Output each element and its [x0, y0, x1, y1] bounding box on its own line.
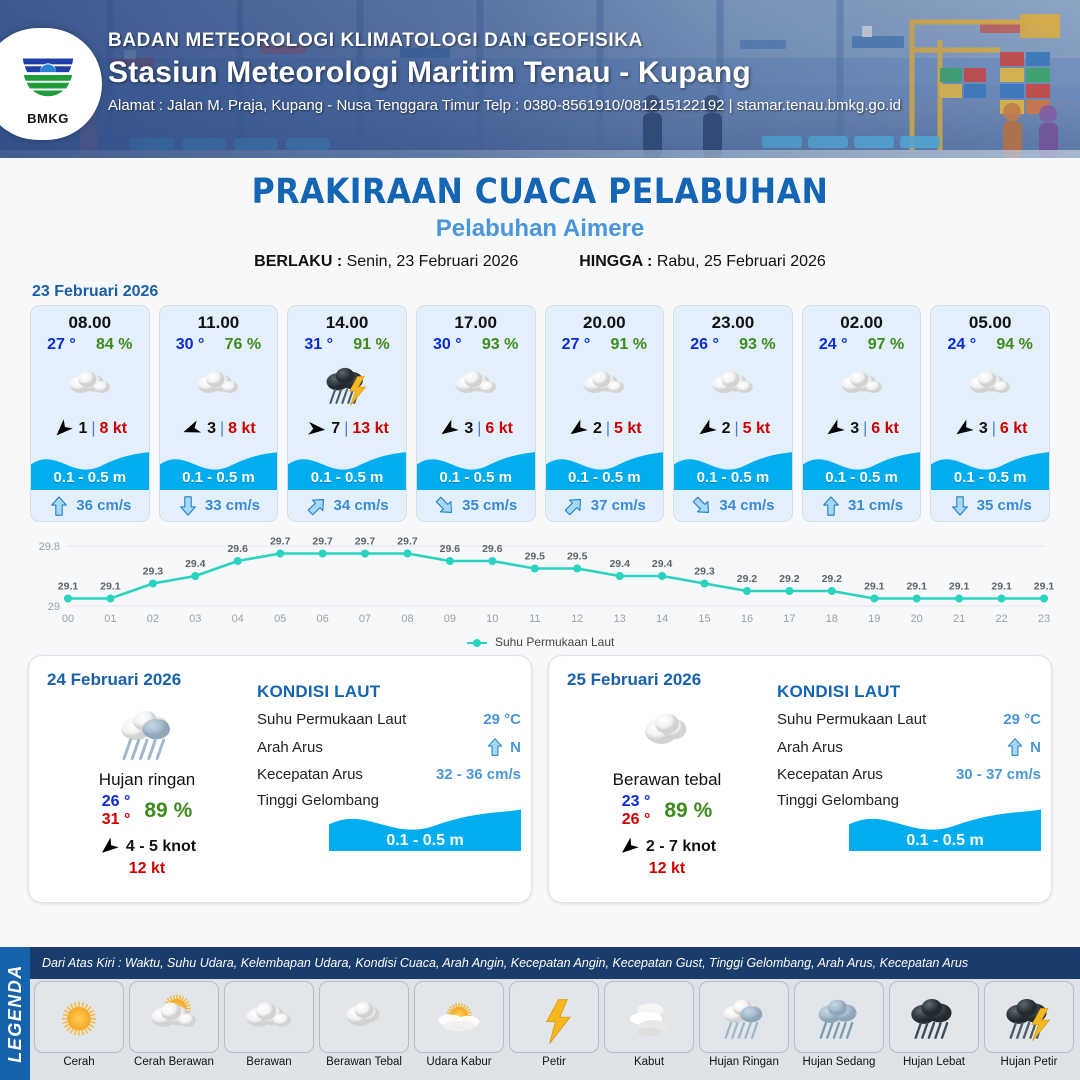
- page-subtitle: Pelabuhan Aimere: [0, 215, 1080, 243]
- hourly-values: 31 ° 91 %: [288, 335, 406, 356]
- hourly-temperature: 27 °: [47, 336, 76, 354]
- chart-point-label: 29.3: [694, 566, 715, 578]
- chart-point: [998, 595, 1006, 603]
- chart-point: [701, 580, 709, 588]
- chart-point-label: 29.4: [609, 558, 630, 570]
- daily-left-block: Hujan ringan 26 ° 31 ° 89 % 4 - 5 knot 1…: [41, 696, 253, 878]
- legend-icon-cell: [129, 981, 219, 1053]
- daily-sea-title: KONDISI LAUT: [257, 682, 521, 702]
- daily-sea-key: Kecepatan Arus: [777, 766, 883, 783]
- chart-point-label: 29.6: [227, 543, 248, 555]
- hourly-current: 36 cm/s: [31, 490, 149, 521]
- current-direction-arrow-icon: [48, 495, 70, 517]
- daily-sea-row: Kecepatan Arus30 - 37 cm/s: [777, 766, 1041, 783]
- hourly-current: 35 cm/s: [417, 490, 535, 521]
- chart-xtick: 09: [444, 613, 456, 625]
- chart-ytick: 29.8: [39, 541, 60, 553]
- wind-separator: |: [735, 420, 739, 438]
- current-direction-arrow-icon: [563, 495, 585, 517]
- daily-sea-block: KONDISI LAUT Suhu Permukaan Laut29 °C Ar…: [777, 682, 1041, 851]
- daily-panel: 25 Februari 2026 Berawan tebal 23 ° 26 °: [548, 655, 1052, 903]
- daily-weather-icon: [561, 696, 773, 768]
- chart-point: [913, 595, 921, 603]
- legend-item: Hujan Lebat: [889, 981, 979, 1068]
- chart-point-label: 29.6: [440, 543, 461, 555]
- weather-icon-udara-kabur: [428, 988, 490, 1045]
- legend-icon-cell: [794, 981, 884, 1053]
- legend-item: Kabut: [604, 981, 694, 1068]
- wind-direction-arrow-icon: [696, 418, 718, 440]
- daily-current-direction: N: [1005, 737, 1041, 757]
- legend-icon-cell: [319, 981, 409, 1053]
- legend-item-label: Hujan Sedang: [794, 1056, 884, 1068]
- hourly-gust: 13 kt: [352, 420, 388, 438]
- daily-gust: 12 kt: [41, 860, 253, 878]
- legend-icon-cell: [509, 981, 599, 1053]
- chart-xtick: 04: [232, 613, 244, 625]
- chart-point: [234, 557, 242, 565]
- weather-icon-berawan: [834, 358, 890, 410]
- wind-separator: |: [91, 420, 95, 438]
- chart-xtick: 15: [698, 613, 710, 625]
- legend-item: Petir: [509, 981, 599, 1068]
- hourly-wind: 1 | 8 kt: [31, 412, 149, 446]
- legend-icon-cell: [889, 981, 979, 1053]
- hourly-wind: 3 | 6 kt: [803, 412, 921, 446]
- daily-wind-speed: 4 - 5 knot: [126, 838, 196, 856]
- daily-sea-row: Suhu Permukaan Laut29 °C: [257, 711, 521, 728]
- hourly-gust: 6 kt: [485, 420, 513, 438]
- daily-sea-key: Suhu Permukaan Laut: [777, 711, 926, 728]
- sst-chart-svg: 2929.829.10029.10129.30229.40329.60429.7…: [22, 528, 1058, 628]
- hourly-time: 11.00: [160, 306, 278, 335]
- daily-sea-value: 32 - 36 cm/s: [436, 766, 521, 783]
- chart-xtick: 13: [614, 613, 626, 625]
- chart-point-label: 29.3: [143, 566, 164, 578]
- sst-chart: 2929.829.10029.10129.30229.40329.60429.7…: [0, 522, 1080, 633]
- legend-item: Hujan Petir: [984, 981, 1074, 1068]
- hourly-weather-icon: [931, 356, 1049, 412]
- daily-temp-humidity: 26 ° 31 ° 89 %: [41, 793, 253, 830]
- daily-sea-value: 29 °C: [1003, 711, 1041, 728]
- hourly-current: 34 cm/s: [674, 490, 792, 521]
- chart-point-label: 29.7: [355, 536, 376, 548]
- chart-point-label: 29.4: [185, 558, 206, 570]
- hourly-current-speed: 35 cm/s: [462, 497, 517, 514]
- daily-temp-max: 31 °: [102, 811, 131, 828]
- hourly-current-speed: 34 cm/s: [334, 497, 389, 514]
- legend-item-label: Hujan Petir: [984, 1056, 1074, 1068]
- chart-point-label: 29.6: [482, 543, 503, 555]
- chart-point: [64, 595, 72, 603]
- valid-from-label: BERLAKU :: [254, 253, 342, 270]
- valid-to-label: HINGGA :: [579, 253, 652, 270]
- hourly-wind: 2 | 5 kt: [674, 412, 792, 446]
- current-direction-arrow-icon: [691, 495, 713, 517]
- current-direction-arrow-icon: [306, 495, 328, 517]
- daily-wave-height: 0.1 - 0.5 m: [849, 832, 1041, 850]
- weather-icon-kabut: [618, 988, 680, 1045]
- legend-item: Berawan Tebal: [319, 981, 409, 1068]
- weather-icon-berawan: [190, 358, 246, 410]
- legend-item-list: Cerah Cerah Berawan: [34, 981, 1074, 1068]
- header-text-block: BADAN METEOROLOGI KLIMATOLOGI DAN GEOFIS…: [108, 30, 901, 114]
- weather-icon-berawan: [448, 358, 504, 410]
- hourly-wave: 0.1 - 0.5 m: [931, 446, 1049, 490]
- current-direction-arrow-icon: [949, 495, 971, 517]
- chart-point-label: 29.2: [779, 573, 800, 585]
- daily-gust: 12 kt: [561, 860, 773, 878]
- hourly-weather-icon: [417, 356, 535, 412]
- hourly-gust: 6 kt: [1000, 420, 1028, 438]
- hourly-wind-speed: 3: [979, 420, 988, 438]
- hourly-humidity: 84 %: [96, 336, 132, 354]
- wind-direction-arrow-icon: [618, 836, 640, 858]
- hourly-values: 24 ° 97 %: [803, 335, 921, 356]
- chart-point-label: 29.2: [737, 573, 758, 585]
- hourly-values: 27 ° 91 %: [546, 335, 664, 356]
- chart-xtick: 17: [783, 613, 795, 625]
- chart-point: [658, 572, 666, 580]
- legend-item-label: Udara Kabur: [414, 1056, 504, 1068]
- chart-point-label: 29.5: [567, 551, 588, 563]
- hourly-time: 05.00: [931, 306, 1049, 335]
- title-block: PRAKIRAAN CUACA PELABUHAN Pelabuhan Aime…: [0, 158, 1080, 271]
- chart-point: [191, 572, 199, 580]
- legend-item: Hujan Ringan: [699, 981, 789, 1068]
- daily-sea-row: Suhu Permukaan Laut29 °C: [777, 711, 1041, 728]
- chart-point: [573, 565, 581, 573]
- chart-point: [743, 587, 751, 595]
- hourly-wind-speed: 2: [593, 420, 602, 438]
- chart-legend-marker-icon: [466, 638, 488, 648]
- hourly-weather-icon: [288, 356, 406, 412]
- hourly-time: 02.00: [803, 306, 921, 335]
- hourly-card: 11.00 30 ° 76 % 3 | 8 kt: [159, 305, 279, 522]
- daily-sea-row: Arah Arus N: [777, 737, 1041, 757]
- daily-date: 24 Februari 2026: [47, 670, 181, 690]
- hourly-current-speed: 33 cm/s: [205, 497, 260, 514]
- weather-icon-berawan: [705, 358, 761, 410]
- hourly-current: 35 cm/s: [931, 490, 1049, 521]
- chart-point: [276, 550, 284, 558]
- daily-sea-block: KONDISI LAUT Suhu Permukaan Laut29 °C Ar…: [257, 682, 521, 851]
- hourly-current-speed: 31 cm/s: [848, 497, 903, 514]
- daily-temp-max: 26 °: [622, 811, 651, 828]
- wind-direction-arrow-icon: [52, 418, 74, 440]
- legend-icon-cell: [414, 981, 504, 1053]
- valid-from-value: Senin, 23 Februari 2026: [347, 253, 519, 270]
- daily-wave: 0.1 - 0.5 m: [257, 805, 521, 851]
- hourly-wind: 7 | 13 kt: [288, 412, 406, 446]
- weather-icon-cerah-berawan: [143, 988, 205, 1045]
- hourly-current: 33 cm/s: [160, 490, 278, 521]
- chart-point-label: 29.1: [949, 581, 970, 593]
- header-station: Stasiun Meteorologi Maritim Tenau - Kupa…: [108, 56, 901, 90]
- weather-icon-petir: [523, 988, 585, 1045]
- hourly-temperature: 24 °: [819, 336, 848, 354]
- chart-xtick: 11: [529, 613, 540, 625]
- legend-side-bar: LEGENDA: [0, 947, 30, 1080]
- hourly-values: 24 ° 94 %: [931, 335, 1049, 356]
- legend-item-label: Berawan: [224, 1056, 314, 1068]
- current-direction-arrow-icon: [820, 495, 842, 517]
- daily-temp-min: 26 °: [102, 793, 131, 810]
- hourly-values: 26 ° 93 %: [674, 335, 792, 356]
- hourly-current-speed: 35 cm/s: [977, 497, 1032, 514]
- hourly-current: 34 cm/s: [288, 490, 406, 521]
- chart-point: [446, 557, 454, 565]
- daily-temp-min: 23 °: [622, 793, 651, 810]
- daily-humidity: 89 %: [144, 799, 192, 823]
- chart-xtick: 10: [486, 613, 498, 625]
- legend-note: Dari Atas Kiri : Waktu, Suhu Udara, Kele…: [30, 947, 1080, 979]
- weather-icon-hujan-ringan: [713, 988, 775, 1045]
- legend-item-label: Petir: [509, 1056, 599, 1068]
- legend-icon-cell: [34, 981, 124, 1053]
- daily-sea-key: Arah Arus: [257, 739, 323, 756]
- hourly-wave-height: 0.1 - 0.5 m: [288, 469, 406, 486]
- hourly-wave: 0.1 - 0.5 m: [417, 446, 535, 490]
- hourly-wind-speed: 3: [850, 420, 859, 438]
- weather-icon-berawan: [238, 988, 300, 1045]
- hourly-card-list: 08.00 27 ° 84 % 1 | 8 kt: [0, 305, 1080, 522]
- hourly-current-speed: 37 cm/s: [591, 497, 646, 514]
- hourly-wave-height: 0.1 - 0.5 m: [160, 469, 278, 486]
- weather-icon-berawan-tebal: [628, 696, 706, 768]
- hourly-wind: 3 | 6 kt: [417, 412, 535, 446]
- daily-humidity: 89 %: [664, 799, 712, 823]
- daily-sea-key: Kecepatan Arus: [257, 766, 363, 783]
- chart-xtick: 14: [656, 613, 668, 625]
- hourly-humidity: 93 %: [482, 336, 518, 354]
- weather-icon-berawan: [62, 358, 118, 410]
- legend-item: Cerah: [34, 981, 124, 1068]
- logo-text: BMKG: [17, 111, 79, 126]
- header-org: BADAN METEOROLOGI KLIMATOLOGI DAN GEOFIS…: [108, 30, 901, 52]
- legend-item-label: Cerah: [34, 1056, 124, 1068]
- weather-icon-hujan-lebat: [903, 988, 965, 1045]
- current-direction-arrow-icon: [177, 495, 199, 517]
- daily-condition: Hujan ringan: [41, 770, 253, 790]
- hourly-weather-icon: [160, 356, 278, 412]
- chart-point-label: 29.1: [906, 581, 927, 593]
- chart-xtick: 21: [953, 613, 965, 625]
- daily-wind-speed: 2 - 7 knot: [646, 838, 716, 856]
- hourly-weather-icon: [674, 356, 792, 412]
- chart-point: [785, 587, 793, 595]
- wind-separator: |: [992, 420, 996, 438]
- hourly-card: 05.00 24 ° 94 % 3 | 6 kt: [930, 305, 1050, 522]
- chart-point: [870, 595, 878, 603]
- weather-icon-hujan-sedang: [808, 988, 870, 1045]
- chart-point-label: 29.4: [652, 558, 673, 570]
- hourly-wind-speed: 2: [722, 420, 731, 438]
- chart-point: [488, 557, 496, 565]
- daily-current-direction-label: N: [1030, 739, 1041, 756]
- legend-icon-cell: [604, 981, 694, 1053]
- wind-direction-arrow-icon: [438, 418, 460, 440]
- wind-direction-arrow-icon: [98, 836, 120, 858]
- hourly-wind-speed: 3: [207, 420, 216, 438]
- current-direction-arrow-icon: [434, 495, 456, 517]
- hourly-humidity: 91 %: [611, 336, 647, 354]
- daily-panels: 24 Februari 2026 Hujan ringan 26 ° 31 °: [0, 649, 1080, 903]
- wind-separator: |: [220, 420, 224, 438]
- bmkg-logo-mark: [17, 43, 79, 105]
- hourly-wave-height: 0.1 - 0.5 m: [931, 469, 1049, 486]
- hourly-wave-height: 0.1 - 0.5 m: [417, 469, 535, 486]
- hourly-temperature: 27 °: [562, 336, 591, 354]
- chart-point-label: 29.7: [312, 536, 333, 548]
- wind-direction-arrow-icon: [567, 418, 589, 440]
- chart-point: [149, 580, 157, 588]
- hourly-wind-speed: 1: [78, 420, 87, 438]
- hourly-weather-icon: [803, 356, 921, 412]
- hourly-temperature: 24 °: [948, 336, 977, 354]
- daily-sea-title: KONDISI LAUT: [777, 682, 1041, 702]
- daily-sea-value: 29 °C: [483, 711, 521, 728]
- chart-legend: Suhu Permukaan Laut: [0, 635, 1080, 649]
- weather-icon-hujan-petir: [319, 358, 375, 410]
- legend-item: Cerah Berawan: [129, 981, 219, 1068]
- weather-icon-berawan: [576, 358, 632, 410]
- wind-separator: |: [477, 420, 481, 438]
- wind-direction-arrow-icon: [305, 418, 327, 440]
- hourly-values: 27 ° 84 %: [31, 335, 149, 356]
- legend-section: LEGENDA Dari Atas Kiri : Waktu, Suhu Uda…: [0, 947, 1080, 1080]
- chart-point-label: 29.1: [1034, 581, 1055, 593]
- chart-point: [404, 550, 412, 558]
- current-direction-arrow-icon: [485, 737, 505, 757]
- hourly-weather-icon: [31, 356, 149, 412]
- legend-icon-cell: [699, 981, 789, 1053]
- wind-direction-arrow-icon: [181, 418, 203, 440]
- chart-point-label: 29.1: [991, 581, 1012, 593]
- legend-item-label: Kabut: [604, 1056, 694, 1068]
- daily-wave-height: 0.1 - 0.5 m: [329, 832, 521, 850]
- weather-icon-berawan: [962, 358, 1018, 410]
- weather-icon-berawan-tebal: [333, 988, 395, 1045]
- legend-item: Hujan Sedang: [794, 981, 884, 1068]
- hourly-wave: 0.1 - 0.5 m: [546, 446, 664, 490]
- daily-current-direction: N: [485, 737, 521, 757]
- hourly-humidity: 97 %: [868, 336, 904, 354]
- hourly-current-speed: 36 cm/s: [76, 497, 131, 514]
- chart-point: [955, 595, 963, 603]
- hourly-card: 08.00 27 ° 84 % 1 | 8 kt: [30, 305, 150, 522]
- daily-sea-row: Arah Arus N: [257, 737, 521, 757]
- hourly-wind-speed: 3: [464, 420, 473, 438]
- daily-sea-key: Suhu Permukaan Laut: [257, 711, 406, 728]
- weather-icon-hujan-petir: [998, 988, 1060, 1045]
- chart-point-label: 29.7: [397, 536, 418, 548]
- wind-separator: |: [863, 420, 867, 438]
- hourly-temperature: 30 °: [433, 336, 462, 354]
- chart-xtick: 20: [911, 613, 923, 625]
- hourly-gust: 8 kt: [228, 420, 256, 438]
- chart-point-label: 29.1: [58, 581, 79, 593]
- page-title: PRAKIRAAN CUACA PELABUHAN: [0, 172, 1080, 212]
- hourly-wind: 2 | 5 kt: [546, 412, 664, 446]
- wind-direction-arrow-icon: [953, 418, 975, 440]
- daily-wave: 0.1 - 0.5 m: [777, 805, 1041, 851]
- chart-point: [616, 572, 624, 580]
- weather-icon-cerah: [48, 988, 110, 1045]
- legend-side-label: LEGENDA: [5, 964, 26, 1063]
- hourly-gust: 5 kt: [614, 420, 642, 438]
- chart-xtick: 22: [995, 613, 1007, 625]
- hourly-card: 23.00 26 ° 93 % 2 | 5 kt: [673, 305, 793, 522]
- hourly-wave-height: 0.1 - 0.5 m: [803, 469, 921, 486]
- hourly-temperature: 26 °: [690, 336, 719, 354]
- hourly-wind: 3 | 8 kt: [160, 412, 278, 446]
- hourly-values: 30 ° 76 %: [160, 335, 278, 356]
- current-direction-arrow-icon: [1005, 737, 1025, 757]
- hourly-gust: 8 kt: [100, 420, 128, 438]
- chart-point: [828, 587, 836, 595]
- valid-to-value: Rabu, 25 Februari 2026: [657, 253, 826, 270]
- header-address: Alamat : Jalan M. Praja, Kupang - Nusa T…: [108, 97, 901, 114]
- hourly-time: 14.00: [288, 306, 406, 335]
- chart-line: [68, 554, 1044, 599]
- hourly-current: 37 cm/s: [546, 490, 664, 521]
- daily-date: 25 Februari 2026: [567, 670, 701, 690]
- hourly-time: 20.00: [546, 306, 664, 335]
- hourly-time: 08.00: [31, 306, 149, 335]
- hourly-current-speed: 34 cm/s: [719, 497, 774, 514]
- daily-wind: 4 - 5 knot: [41, 836, 253, 858]
- daily-sea-value: 30 - 37 cm/s: [956, 766, 1041, 783]
- hourly-humidity: 76 %: [225, 336, 261, 354]
- daily-wind: 2 - 7 knot: [561, 836, 773, 858]
- hourly-humidity: 93 %: [739, 336, 775, 354]
- hourly-wind-speed: 7: [331, 420, 340, 438]
- legend-item: Udara Kabur: [414, 981, 504, 1068]
- daily-sea-row: Kecepatan Arus32 - 36 cm/s: [257, 766, 521, 783]
- chart-xtick: 07: [359, 613, 371, 625]
- legend-item-label: Cerah Berawan: [129, 1056, 219, 1068]
- hourly-time: 17.00: [417, 306, 535, 335]
- hourly-gust: 5 kt: [743, 420, 771, 438]
- chart-xtick: 16: [741, 613, 753, 625]
- chart-xtick: 12: [571, 613, 583, 625]
- legend-icon-cell: [224, 981, 314, 1053]
- hourly-date: 23 Februari 2026: [32, 283, 1080, 301]
- hourly-wave: 0.1 - 0.5 m: [31, 446, 149, 490]
- wind-separator: |: [344, 420, 348, 438]
- legend-icon-cell: [984, 981, 1074, 1053]
- hourly-wave-height: 0.1 - 0.5 m: [546, 469, 664, 486]
- validity-period: BERLAKU : Senin, 23 Februari 2026 HINGGA…: [0, 253, 1080, 271]
- hourly-humidity: 91 %: [353, 336, 389, 354]
- chart-xtick: 00: [62, 613, 74, 625]
- chart-xtick: 19: [868, 613, 880, 625]
- hourly-wave-height: 0.1 - 0.5 m: [674, 469, 792, 486]
- legend-item-label: Berawan Tebal: [319, 1056, 409, 1068]
- daily-weather-icon: [41, 696, 253, 768]
- chart-point: [361, 550, 369, 558]
- hourly-temperature: 30 °: [176, 336, 205, 354]
- daily-sea-key: Arah Arus: [777, 739, 843, 756]
- hourly-card: 14.00 31 ° 91 % 7 | 13 k: [287, 305, 407, 522]
- daily-temp-humidity: 23 ° 26 ° 89 %: [561, 793, 773, 830]
- legend-item-label: Hujan Lebat: [889, 1056, 979, 1068]
- chart-legend-label: Suhu Permukaan Laut: [495, 635, 614, 649]
- chart-xtick: 06: [316, 613, 328, 625]
- chart-point-label: 29.1: [100, 581, 121, 593]
- hourly-current: 31 cm/s: [803, 490, 921, 521]
